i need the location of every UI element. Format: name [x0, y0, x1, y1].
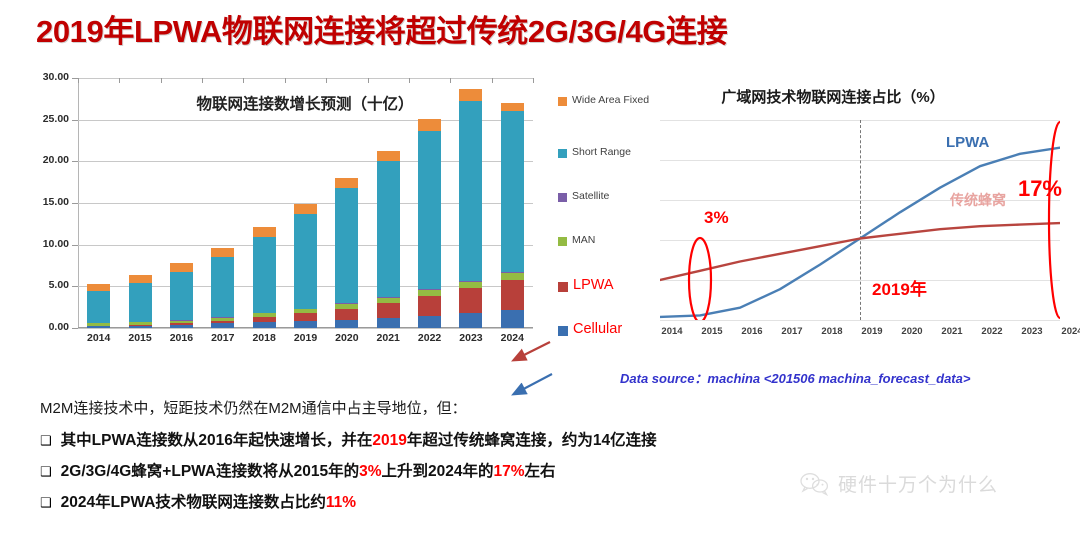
- bar-segment-wide-area-fixed: [253, 227, 276, 237]
- watermark-text: 硬件十万个为什么: [838, 470, 998, 497]
- legend-item-short-range: Short Range: [558, 146, 631, 158]
- bar-segment-lpwa: [170, 323, 193, 324]
- bullet-marker-icon: ❑: [40, 462, 52, 482]
- line-label-lpwa: LPWA: [946, 134, 989, 151]
- bar-segment-short-range: [335, 188, 358, 303]
- bar-segment-cellular: [335, 320, 358, 328]
- bullet-item: ❑其中LPWA连接数从2016年起快速增长，并在2019年超过传统蜂窝连接，约为…: [40, 431, 840, 451]
- legend-label: Wide Area Fixed: [572, 94, 649, 106]
- y-axis-tick-label: 10.00: [15, 238, 69, 250]
- bar-segment-short-range: [377, 161, 400, 297]
- bar-segment-lpwa: [211, 321, 234, 324]
- legend-item-lpwa: LPWA: [558, 278, 614, 293]
- bar-segment-satellite: [418, 289, 441, 290]
- bar-segment-wide-area-fixed: [501, 103, 524, 111]
- annotation-2019: 2019年: [872, 275, 927, 300]
- x-axis-tick-label: 2021: [368, 332, 409, 344]
- y-axis-tick-label: 30.00: [15, 71, 69, 83]
- bar-segment-man: [253, 313, 276, 317]
- bar-segment-lpwa: [459, 288, 482, 313]
- bar-segment-man: [294, 309, 317, 313]
- legend-label: Satellite: [572, 190, 609, 202]
- bar-segment-cellular: [211, 323, 234, 328]
- bar-segment-man: [170, 321, 193, 324]
- x-axis-tick-label: 2023: [450, 332, 491, 344]
- x-axis-tick: [243, 78, 244, 83]
- annotation-3-percent: 3%: [704, 208, 729, 228]
- highlighted-value: 2019: [372, 432, 406, 449]
- bullet-item: ❑2024年LPWA技术物联网连接数占比约11%: [40, 493, 840, 513]
- data-source-note: Data source：machina <201506 machina_fore…: [620, 368, 970, 387]
- lead-paragraph: M2M连接技术中，短距技术仍然在M2M通信中占主导地位，但：: [40, 398, 840, 420]
- bar-segment-short-range: [294, 214, 317, 308]
- slide: 2019年LPWA物联网连接将超过传统2G/3G/4G连接 物联网连接数增长预测…: [0, 0, 1080, 538]
- bar-segment-satellite: [459, 281, 482, 282]
- x-axis-tick: [368, 78, 369, 83]
- bullet-text-run: 2G/3G/4G蜂窝+LPWA连接数将从2015年的: [61, 463, 359, 480]
- x-axis-tick-label: 2020: [326, 332, 367, 344]
- bar-segment-short-range: [211, 257, 234, 317]
- bar-segment-lpwa: [294, 313, 317, 321]
- bar-segment-man: [335, 304, 358, 309]
- highlighted-value: 17%: [494, 463, 525, 480]
- highlight-ellipse-17-percent: [1049, 122, 1060, 318]
- bar-segment-wide-area-fixed: [377, 151, 400, 162]
- bar-segment-short-range: [501, 111, 524, 272]
- line-series-cellular: [660, 223, 1060, 280]
- watermark: 硬件十万个为什么: [800, 470, 998, 497]
- x-axis-tick-label: 2024: [1061, 326, 1080, 337]
- x-axis-tick-label: 2014: [661, 326, 682, 337]
- legend-label: LPWA: [573, 278, 614, 293]
- right-chart-plot: LPWA 传统蜂窝 2019年 3%: [660, 120, 1060, 320]
- line-series-lpwa: [660, 148, 1060, 317]
- x-axis-tick: [492, 78, 493, 83]
- highlighted-value: 11%: [326, 494, 356, 511]
- bullet-text-run: 2024年LPWA技术物联网连接数占比约: [61, 494, 326, 511]
- legend-swatch: [558, 237, 567, 246]
- bar-segment-wide-area-fixed: [335, 178, 358, 188]
- bar-segment-wide-area-fixed: [294, 204, 317, 214]
- bar-segment-cellular: [170, 325, 193, 328]
- left-chart-bars: [78, 78, 533, 328]
- left-chart-plot: 0.005.0010.0015.0020.0025.0030.00 201420…: [78, 78, 533, 328]
- y-axis-tick-label: 25.00: [15, 113, 69, 125]
- x-axis-tick: [202, 78, 203, 83]
- y-axis-tick-label: 5.00: [15, 279, 69, 291]
- legend-swatch: [558, 97, 567, 106]
- bar-segment-wide-area-fixed: [418, 119, 441, 131]
- bullet-list: ❑其中LPWA连接数从2016年起快速增长，并在2019年超过传统蜂窝连接，约为…: [40, 431, 840, 513]
- y-axis-tick-label: 20.00: [15, 154, 69, 166]
- bar-segment-wide-area-fixed: [129, 275, 152, 283]
- bullet-marker-icon: ❑: [40, 493, 52, 513]
- x-axis-tick-label: 2022: [409, 332, 450, 344]
- bar-segment-man: [377, 298, 400, 303]
- bullet-text-run: 左右: [525, 463, 556, 480]
- legend-label: MAN: [572, 234, 595, 246]
- x-axis-tick: [78, 78, 79, 83]
- bullet-text-run: 其中LPWA连接数从2016年起快速增长，并在: [61, 432, 373, 449]
- legend-item-man: MAN: [558, 234, 595, 246]
- bar-segment-man: [211, 318, 234, 321]
- highlight-ellipse-3-percent: [689, 238, 711, 320]
- legend-item-satellite: Satellite: [558, 190, 609, 202]
- y-axis-tick: [72, 328, 78, 329]
- gridline: [660, 320, 1060, 321]
- highlighted-value: 3%: [359, 463, 381, 480]
- x-axis-tick-label: 2017: [202, 332, 243, 344]
- x-axis-tick-label: 2020: [901, 326, 922, 337]
- legend-swatch: [558, 193, 567, 202]
- y-axis-tick-label: 0.00: [15, 321, 69, 333]
- bar-segment-cellular: [129, 326, 152, 329]
- bar-segment-short-range: [129, 283, 152, 322]
- x-axis-tick-label: 2016: [161, 332, 202, 344]
- bullet-item: ❑2G/3G/4G蜂窝+LPWA连接数将从2015年的3%上升到2024年的17…: [40, 462, 840, 482]
- bar-segment-wide-area-fixed: [211, 248, 234, 257]
- x-axis-tick-label: 2022: [981, 326, 1002, 337]
- bar-segment-lpwa: [253, 317, 276, 322]
- legend-label: Short Range: [572, 146, 631, 158]
- bar-segment-short-range: [459, 101, 482, 281]
- x-axis-tick-label: 2018: [243, 332, 284, 344]
- bar-segment-cellular: [377, 318, 400, 328]
- bar-segment-cellular: [418, 316, 441, 329]
- bar-segment-wide-area-fixed: [170, 263, 193, 272]
- bullet-text-run: 年超过传统蜂窝连接，约为14亿连接: [407, 432, 657, 449]
- bar-segment-wide-area-fixed: [459, 89, 482, 102]
- left-chart: 物联网连接数增长预测（十亿） 0.005.0010.0015.0020.0025…: [30, 68, 650, 358]
- bullet-text: 2024年LPWA技术物联网连接数占比约11%: [61, 493, 356, 513]
- bar-segment-cellular: [294, 321, 317, 328]
- x-axis-tick-label: 2015: [701, 326, 722, 337]
- x-axis-tick: [119, 78, 120, 83]
- bullet-text-run: 上升到2024年的: [382, 463, 494, 480]
- bar-segment-short-range: [87, 291, 110, 323]
- legend-item-wide-area-fixed: Wide Area Fixed: [558, 94, 649, 106]
- body-text: M2M连接技术中，短距技术仍然在M2M通信中占主导地位，但： ❑其中LPWA连接…: [40, 398, 840, 513]
- bullet-text: 其中LPWA连接数从2016年起快速增长，并在2019年超过传统蜂窝连接，约为1…: [61, 431, 657, 451]
- legend-swatch: [558, 282, 568, 292]
- bar-segment-short-range: [170, 272, 193, 320]
- bar-segment-lpwa: [501, 280, 524, 310]
- x-axis-tick: [161, 78, 162, 83]
- bar-segment-cellular: [253, 322, 276, 328]
- gridline: [78, 328, 533, 329]
- bar-segment-man: [418, 290, 441, 295]
- x-axis-tick-label: 2021: [941, 326, 962, 337]
- bar-segment-cellular: [87, 326, 110, 328]
- wechat-icon: [800, 472, 830, 496]
- x-axis-tick: [533, 78, 534, 83]
- legend-label: Cellular: [573, 322, 622, 337]
- bar-segment-cellular: [501, 310, 524, 328]
- bar-segment-short-range: [253, 237, 276, 313]
- x-axis-tick-label: 2019: [285, 332, 326, 344]
- x-axis-tick-label: 2015: [119, 332, 160, 344]
- x-axis-tick-label: 2023: [1021, 326, 1042, 337]
- bar-segment-cellular: [459, 313, 482, 328]
- x-axis-tick: [450, 78, 451, 83]
- x-axis-tick: [326, 78, 327, 83]
- bullet-text: 2G/3G/4G蜂窝+LPWA连接数将从2015年的3%上升到2024年的17%…: [61, 462, 556, 482]
- bar-segment-wide-area-fixed: [87, 284, 110, 292]
- bar-segment-short-range: [418, 131, 441, 289]
- right-chart: 广域网技术物联网连接占比（%） 17% LPWA 传统蜂窝 2019年 3% 2…: [648, 80, 1068, 365]
- bar-segment-lpwa: [335, 309, 358, 320]
- x-axis-tick-label: 2018: [821, 326, 842, 337]
- y-axis-tick-label: 15.00: [15, 196, 69, 208]
- right-chart-title: 广域网技术物联网连接占比（%）: [658, 86, 1008, 107]
- x-axis-tick-label: 2014: [78, 332, 119, 344]
- x-axis-tick-label: 2016: [741, 326, 762, 337]
- bar-segment-man: [87, 323, 110, 325]
- x-axis-tick: [409, 78, 410, 83]
- page-title: 2019年LPWA物联网连接将超过传统2G/3G/4G连接: [36, 6, 727, 51]
- bullet-marker-icon: ❑: [40, 431, 52, 451]
- legend-swatch: [558, 326, 568, 336]
- bar-segment-lpwa: [418, 296, 441, 316]
- line-label-cellular: 传统蜂窝: [950, 190, 1006, 210]
- bar-segment-man: [129, 322, 152, 325]
- x-axis-tick-label: 2017: [781, 326, 802, 337]
- legend-item-cellular: Cellular: [558, 322, 622, 337]
- bar-segment-man: [501, 273, 524, 279]
- bar-segment-lpwa: [377, 303, 400, 318]
- x-axis-tick: [285, 78, 286, 83]
- bar-segment-satellite: [501, 272, 524, 273]
- bar-segment-man: [459, 282, 482, 288]
- x-axis-tick-label: 2019: [861, 326, 882, 337]
- legend-swatch: [558, 149, 567, 158]
